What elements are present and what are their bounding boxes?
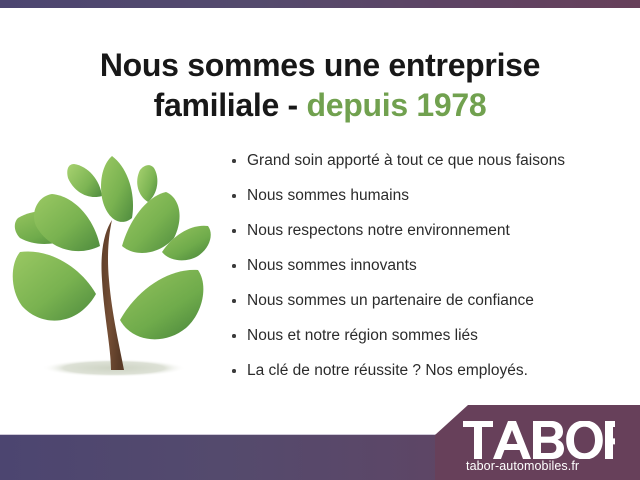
list-item-label: Nous et notre région sommes liés (247, 327, 478, 344)
brand-wordmark (463, 421, 615, 459)
bullet-dot-icon (232, 159, 236, 163)
list-item: Nous sommes innovants (228, 254, 628, 277)
top-accent-bar (0, 0, 640, 8)
list-item-label: Nous sommes innovants (247, 257, 417, 274)
list-item: Nous sommes humains (228, 184, 628, 207)
page-title-line2-plain: familiale - (154, 87, 307, 123)
list-item: Nous respectons notre environnement (228, 219, 628, 242)
tree-leaf-4 (101, 156, 133, 222)
tree-illustration (8, 148, 220, 388)
page-title-accent: depuis 1978 (307, 87, 487, 123)
tree-leaf-9 (120, 270, 203, 339)
tree-trunk (101, 220, 124, 370)
bullet-dot-icon (232, 229, 236, 233)
list-item-label: Nous sommes humains (247, 187, 409, 204)
list-item: Grand soin apporté à tout ce que nous fa… (228, 149, 628, 172)
bullet-dot-icon (232, 264, 236, 268)
page-title-line2: familiale - depuis 1978 (0, 85, 640, 125)
bullet-dot-icon (232, 334, 236, 338)
tree-leaf-8 (13, 251, 96, 320)
list-item: Nous et notre région sommes liés (228, 324, 628, 347)
list-item: La clé de notre réussite ? Nos employés. (228, 359, 628, 382)
list-item-label: Nous sommes un partenaire de confiance (247, 292, 534, 309)
brand-logo-panel[interactable]: tabor-automobiles.fr (435, 405, 640, 480)
list-item: Nous sommes un partenaire de confiance (228, 289, 628, 312)
tree-leaf-5 (137, 165, 157, 202)
list-item-label: La clé de notre réussite ? Nos employés. (247, 362, 528, 379)
list-item-label: Nous respectons notre environnement (247, 222, 510, 239)
list-item-label: Grand soin apporté à tout ce que nous fa… (247, 152, 565, 169)
brand-domain-label: tabor-automobiles.fr (466, 459, 579, 473)
page-title: Nous sommes une entreprisefamiliale - de… (0, 45, 640, 125)
bullet-dot-icon (232, 194, 236, 198)
values-list: Grand soin apporté à tout ce que nous fa… (228, 149, 628, 382)
bullet-dot-icon (232, 299, 236, 303)
page-title-line1: Nous sommes une entreprise (100, 47, 540, 83)
tree-leaf-3 (67, 164, 102, 197)
slide-canvas: Nous sommes une entreprisefamiliale - de… (0, 0, 640, 480)
bullet-dot-icon (232, 369, 236, 373)
